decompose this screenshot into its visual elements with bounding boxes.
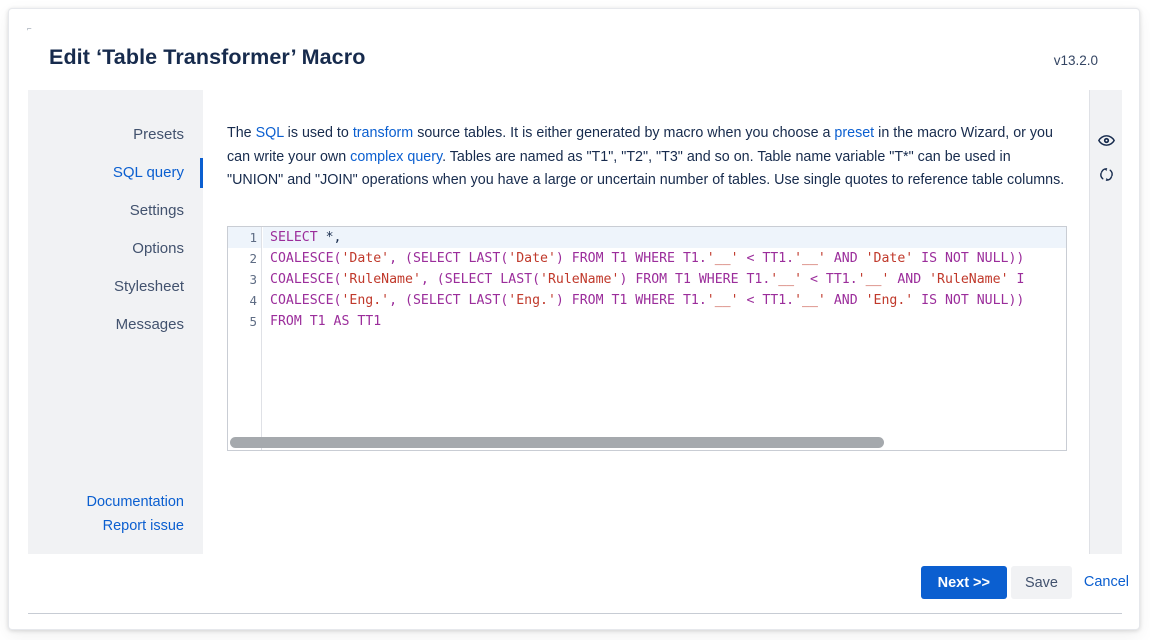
code-token: ) FROM T1 WHERE T1.	[556, 251, 707, 266]
code-token: < TT1.	[739, 293, 795, 308]
code-token: 'Eng.'	[341, 293, 389, 308]
code-token: SELECT	[270, 230, 318, 245]
gutter-line-number: 4	[228, 290, 261, 311]
code-line[interactable]: COALESCE('Date', (SELECT LAST('Date') FR…	[263, 248, 1066, 269]
code-token: 'Date'	[866, 251, 914, 266]
sql-editor[interactable]: 1⌄2345 SELECT *,COALESCE('Date', (SELECT…	[227, 226, 1067, 451]
dialog-body: Presets SQL query Settings Options Style…	[28, 90, 1122, 554]
scrollbar-thumb[interactable]	[230, 437, 884, 448]
footer-divider	[28, 613, 1122, 614]
preset-link[interactable]: preset	[834, 125, 874, 141]
code-token: FROM T1 AS TT1	[270, 314, 381, 329]
code-token: ,	[421, 272, 437, 287]
code-token: < TT1.	[802, 272, 858, 287]
editor-code-area[interactable]: SELECT *,COALESCE('Date', (SELECT LAST('…	[263, 227, 1066, 450]
intro-paragraph: The SQL is used to transform source tabl…	[227, 122, 1065, 193]
code-token: IS NOT NULL))	[913, 251, 1024, 266]
complex-query-link[interactable]: complex query	[350, 149, 442, 165]
editor-gutter: 1⌄2345	[228, 227, 262, 450]
code-token: 'RuleName'	[341, 272, 420, 287]
code-token: '__'	[707, 251, 739, 266]
code-token: 'RuleName'	[929, 272, 1008, 287]
eye-icon[interactable]	[1090, 123, 1123, 157]
save-button[interactable]: Save	[1011, 566, 1072, 599]
page-title: Edit ‘Table Transformer’ Macro	[49, 45, 365, 70]
sidebar: Presets SQL query Settings Options Style…	[28, 90, 203, 554]
code-token: *,	[318, 230, 342, 245]
code-token: AND	[826, 293, 866, 308]
code-token: COALESCE	[270, 293, 334, 308]
code-token: SELECT LAST	[413, 293, 500, 308]
gutter-line-number: 3	[228, 269, 261, 290]
tool-rail	[1089, 90, 1122, 554]
code-token: '__'	[794, 251, 826, 266]
sidebar-nav: Presets SQL query Settings Options Style…	[28, 116, 203, 344]
sidebar-item-stylesheet[interactable]: Stylesheet	[28, 268, 203, 306]
code-token: AND	[889, 272, 929, 287]
report-issue-link[interactable]: Report issue	[28, 514, 184, 538]
code-token: COALESCE	[270, 272, 334, 287]
code-token: SELECT LAST	[413, 251, 500, 266]
sql-link[interactable]: SQL	[256, 125, 284, 141]
code-token: 'RuleName'	[540, 272, 619, 287]
code-token: '__'	[707, 293, 739, 308]
sidebar-item-presets[interactable]: Presets	[28, 116, 203, 154]
intro-text-3: source tables. It is either generated by…	[413, 125, 834, 141]
code-token: IS NOT NULL))	[913, 293, 1024, 308]
code-line[interactable]: COALESCE('Eng.', (SELECT LAST('Eng.') FR…	[263, 290, 1066, 311]
dialog-footer: Next >> Save Cancel	[9, 554, 1140, 630]
documentation-link[interactable]: Documentation	[28, 490, 184, 514]
code-token: '__'	[794, 293, 826, 308]
gutter-line-number: 5	[228, 311, 261, 332]
intro-text-1: The	[227, 125, 256, 141]
code-token: 'Date'	[508, 251, 556, 266]
code-token: 'Eng.'	[508, 293, 556, 308]
code-token: I	[1009, 272, 1025, 287]
code-token: AND	[826, 251, 866, 266]
code-token: 'Date'	[341, 251, 389, 266]
sidebar-item-messages[interactable]: Messages	[28, 306, 203, 344]
dialog-header: Edit ‘Table Transformer’ Macro v13.2.0	[9, 9, 1139, 89]
macro-edit-dialog: ⌐ Edit ‘Table Transformer’ Macro v13.2.0…	[8, 8, 1140, 630]
code-line[interactable]: SELECT *,	[263, 227, 1066, 248]
version-label: v13.2.0	[1054, 53, 1098, 68]
sidebar-footer: Documentation Report issue	[28, 490, 203, 538]
code-token: (	[405, 251, 413, 266]
transform-link[interactable]: transform	[353, 125, 413, 141]
code-token: (	[437, 272, 445, 287]
code-token: ) FROM T1 WHERE T1.	[556, 293, 707, 308]
main-content: The SQL is used to transform source tabl…	[203, 90, 1089, 554]
code-line[interactable]: FROM T1 AS TT1	[263, 311, 1066, 332]
gutter-line-number: 2	[228, 248, 261, 269]
code-token: ) FROM T1 WHERE T1.	[619, 272, 770, 287]
gutter-line-number: 1⌄	[228, 227, 261, 248]
cancel-button[interactable]: Cancel	[1084, 566, 1129, 599]
code-token: 'Eng.'	[866, 293, 914, 308]
code-token: (	[532, 272, 540, 287]
code-token: (	[405, 293, 413, 308]
next-button[interactable]: Next >>	[921, 566, 1007, 599]
code-line[interactable]: COALESCE('RuleName', (SELECT LAST('RuleN…	[263, 269, 1066, 290]
sidebar-item-sql-query[interactable]: SQL query	[28, 154, 203, 192]
sidebar-item-settings[interactable]: Settings	[28, 192, 203, 230]
code-token: ,	[389, 293, 405, 308]
sidebar-item-options[interactable]: Options	[28, 230, 203, 268]
intro-text-2: is used to	[284, 125, 353, 141]
code-token: '__'	[858, 272, 890, 287]
code-token: SELECT LAST	[445, 272, 532, 287]
code-token: COALESCE	[270, 251, 334, 266]
refresh-icon[interactable]	[1090, 157, 1123, 191]
code-token: ,	[389, 251, 405, 266]
code-token: '__'	[770, 272, 802, 287]
editor-horizontal-scrollbar[interactable]	[229, 436, 1067, 448]
code-token: < TT1.	[739, 251, 795, 266]
